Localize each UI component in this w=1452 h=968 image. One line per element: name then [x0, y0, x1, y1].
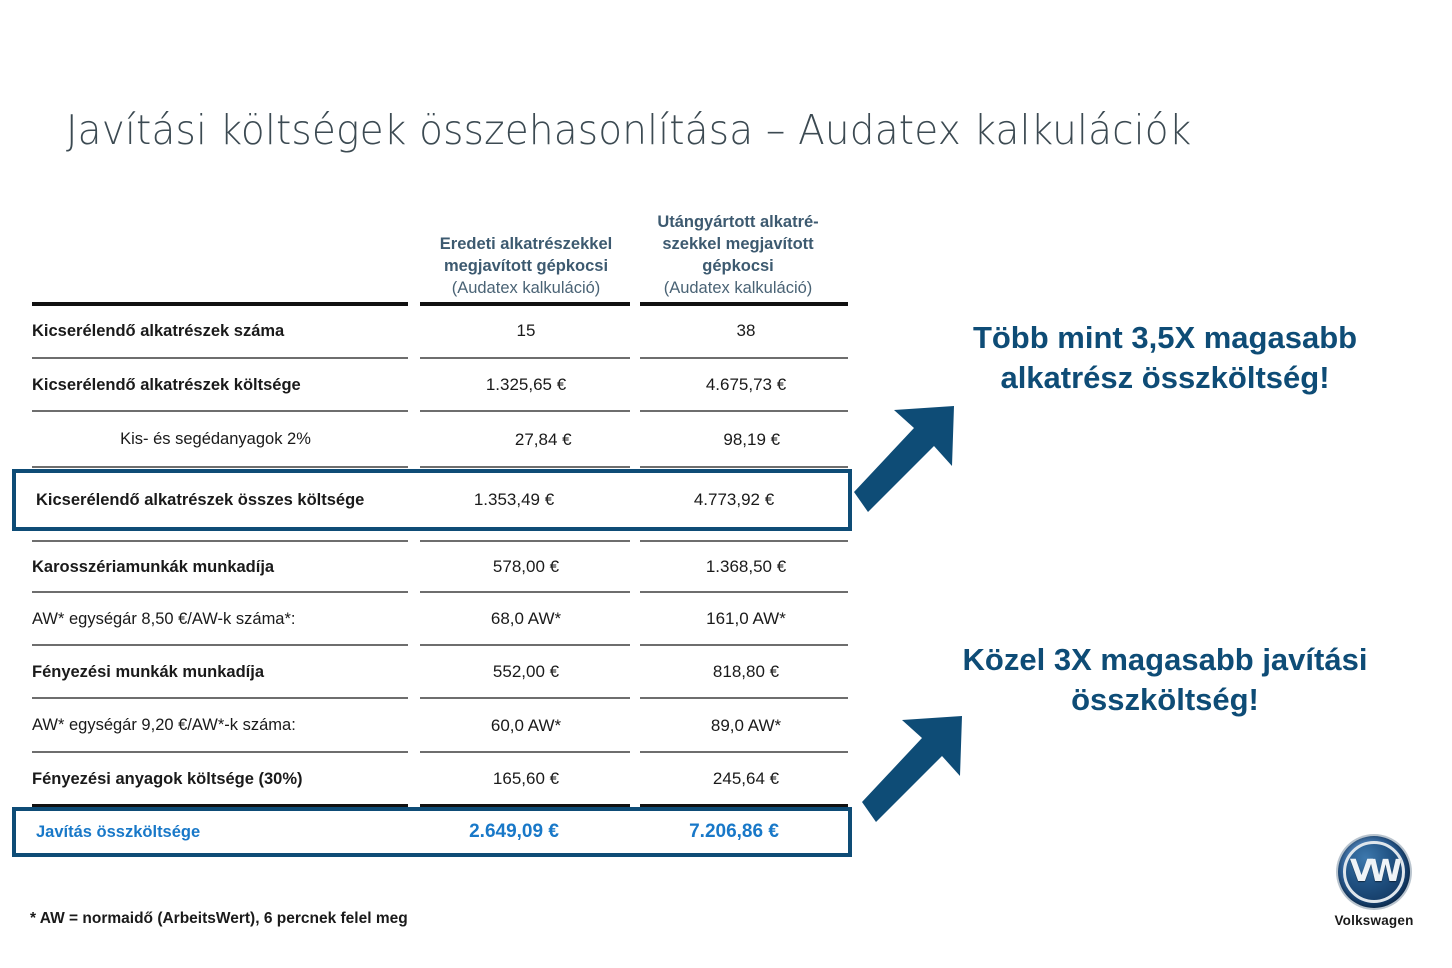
- vw-roundel-icon: VW: [1338, 836, 1410, 908]
- table-row: Kis- és segédanyagok 2% 27,84 € 98,19 €: [12, 413, 852, 466]
- table-row: Fényezési munkák munkadíja 552,00 € 818,…: [12, 647, 852, 697]
- arrow-up-right-icon-parts: [848, 396, 968, 516]
- column-header-aftermarket-parts: Utángyártott alkatré- szekkel megjavítot…: [632, 212, 844, 302]
- row-label: AW* egységár 9,20 €/AW*-k száma:: [32, 715, 420, 736]
- row-value-aftermarket: 161,0 AW*: [640, 609, 852, 629]
- row-label: Kicserélendő alkatrészek száma: [32, 321, 420, 342]
- column-header-subtitle: (Audatex kalkuláció): [420, 278, 632, 300]
- row-label: Javítás összköltsége: [36, 822, 408, 843]
- row-value-aftermarket: 245,64 €: [640, 769, 852, 789]
- row-value-aftermarket: 818,80 €: [640, 662, 852, 682]
- table-header-row: Eredeti alkatrészekkel megjavított gépko…: [12, 196, 852, 302]
- page-title: Javítási költségek összehasonlítása – Au…: [66, 106, 1192, 154]
- row-value-original: 15: [420, 321, 632, 341]
- column-header-subtitle: (Audatex kalkuláció): [632, 278, 844, 300]
- column-header-line: Eredeti alkatrészekkel: [420, 234, 632, 256]
- table-row: AW* egységár 8,50 €/AW-k száma*: 68,0 AW…: [12, 594, 852, 644]
- row-value-original: 1.353,49 €: [408, 490, 620, 510]
- row-value-original: 1.325,65 €: [420, 375, 632, 395]
- row-value-aftermarket: 98,19 €: [651, 430, 852, 450]
- row-value-original: 552,00 €: [420, 662, 632, 682]
- row-value-original: 2.649,09 €: [408, 821, 620, 843]
- row-value-original: 60,0 AW*: [420, 716, 632, 736]
- table-row: Kicserélendő alkatrészek száma 15 38: [12, 305, 852, 357]
- table-body: Kicserélendő alkatrészek száma 15 38 Kic…: [12, 302, 852, 857]
- row-label: Karosszériamunkák munkadíja: [32, 557, 420, 578]
- table-row: Karosszériamunkák munkadíja 578,00 € 1.3…: [12, 543, 852, 591]
- volkswagen-logo: VW Volkswagen: [1331, 836, 1417, 928]
- table-row: Kicserélendő alkatrészek költsége 1.325,…: [12, 360, 852, 410]
- highlighted-row-parts-subtotal: Kicserélendő alkatrészek összes költsége…: [12, 469, 852, 531]
- table-row: AW* egységár 9,20 €/AW*-k száma: 60,0 AW…: [12, 700, 852, 751]
- highlighted-row-repair-total: Javítás összköltsége 2.649,09 € 7.206,86…: [12, 807, 852, 857]
- column-header-line: megjavított gépkocsi: [420, 256, 632, 278]
- row-value-original: 68,0 AW*: [420, 609, 632, 629]
- callout-parts-cost: Több mint 3,5X magasabb alkatrész összkö…: [940, 318, 1390, 399]
- arrow-up-right-icon-repair: [856, 706, 976, 826]
- column-header-line: Utángyártott alkatré-: [632, 212, 844, 234]
- row-label: Fényezési munkák munkadíja: [32, 662, 420, 683]
- row-label: Kicserélendő alkatrészek összes költsége: [36, 490, 408, 511]
- row-label: Fényezési anyagok költsége (30%): [32, 769, 420, 790]
- column-header-original-parts: Eredeti alkatrészekkel megjavított gépko…: [420, 234, 632, 302]
- row-value-original: 578,00 €: [420, 557, 632, 577]
- volkswagen-wordmark: Volkswagen: [1331, 913, 1417, 928]
- vw-monogram: VW: [1350, 857, 1398, 887]
- row-value-aftermarket: 7.206,86 €: [628, 821, 840, 843]
- callout-repair-cost: Közel 3X magasabb javítási összköltség!: [950, 640, 1380, 721]
- row-value-aftermarket: 38: [640, 321, 852, 341]
- vw-roundel-inner: VW: [1343, 841, 1405, 903]
- table-row: Fényezési anyagok költsége (30%) 165,60 …: [12, 754, 852, 804]
- row-label: Kis- és segédanyagok 2%: [32, 429, 443, 450]
- row-value-aftermarket: 4.675,73 €: [640, 375, 852, 395]
- column-header-line: gépkocsi: [632, 256, 844, 278]
- row-label: Kicserélendő alkatrészek költsége: [32, 375, 420, 396]
- row-value-aftermarket: 4.773,92 €: [628, 490, 840, 510]
- row-value-original: 165,60 €: [420, 769, 632, 789]
- row-value-aftermarket: 89,0 AW*: [640, 716, 852, 736]
- footnote-aw-definition: * AW = normaidő (ArbeitsWert), 6 percnek…: [30, 910, 408, 928]
- row-value-original: 27,84 €: [443, 430, 644, 450]
- cost-comparison-table: Eredeti alkatrészekkel megjavított gépko…: [12, 196, 852, 857]
- row-label: AW* egységár 8,50 €/AW-k száma*:: [32, 609, 420, 630]
- column-header-line: szekkel megjavított: [632, 234, 844, 256]
- row-value-aftermarket: 1.368,50 €: [640, 557, 852, 577]
